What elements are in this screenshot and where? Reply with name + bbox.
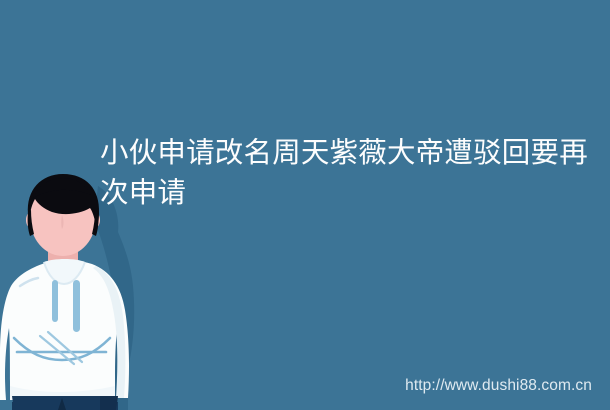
figure-pants [12,396,118,410]
figure-hoodie [0,259,129,400]
headline-text: 小伙申请改名周天紫薇大帝遭驳回要再次申请 [100,133,595,213]
watermark-url: http://www.dushi88.com.cn [405,377,592,395]
cover-image-canvas: 小伙申请改名周天紫薇大帝遭驳回要再次申请 http://www.dushi88.… [0,0,610,410]
